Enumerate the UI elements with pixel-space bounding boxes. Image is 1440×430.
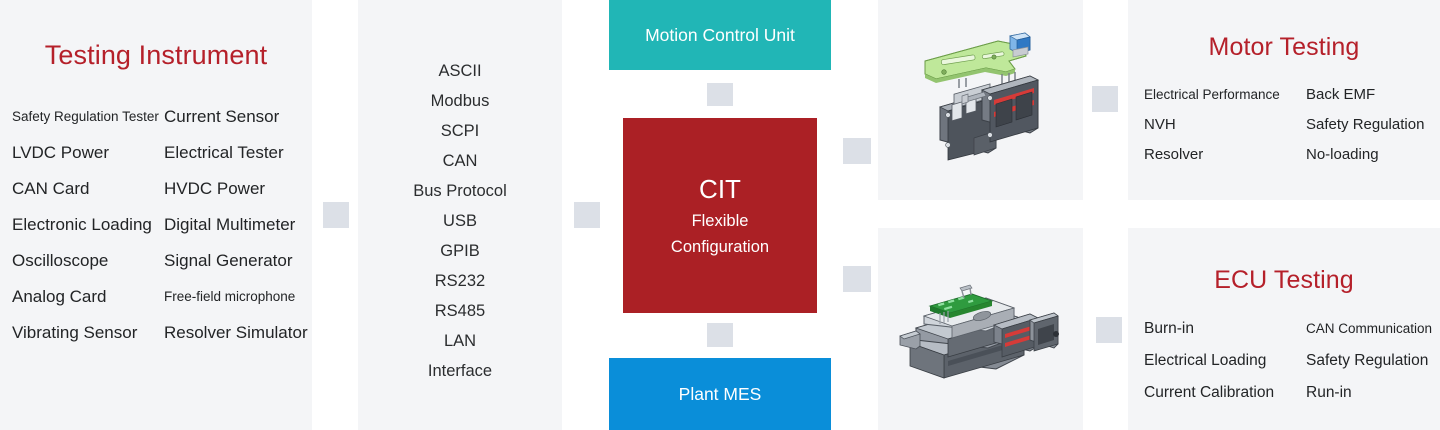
instrument-item[interactable]: Current Sensor bbox=[164, 99, 314, 135]
ecu-testing-item[interactable]: Run-in bbox=[1306, 377, 1440, 409]
block-cit-title: CIT bbox=[699, 172, 741, 206]
instrument-item[interactable]: CAN Card bbox=[12, 171, 164, 207]
panel-ecu-fixture-image bbox=[878, 228, 1083, 430]
protocol-item[interactable]: SCPI bbox=[358, 116, 562, 146]
instrument-tag-grid: Safety Regulation TesterCurrent SensorLV… bbox=[12, 99, 312, 351]
instrument-item[interactable]: Oscilloscope bbox=[12, 243, 164, 279]
protocol-item[interactable]: USB bbox=[358, 206, 562, 236]
ecu-testing-item[interactable]: Electrical Loading bbox=[1144, 345, 1306, 377]
ecu-testing-item[interactable]: Safety Regulation bbox=[1306, 345, 1440, 377]
block-plant-mes-label: Plant MES bbox=[679, 384, 762, 405]
panel-ecu-testing: ECU Testing Burn-inCAN CommunicationElec… bbox=[1128, 228, 1440, 430]
motor-testing-item[interactable]: Electrical Performance bbox=[1144, 80, 1306, 110]
connector-square-motor-image-testing bbox=[1092, 86, 1118, 112]
ecu-testing-item[interactable]: Burn-in bbox=[1144, 313, 1306, 345]
protocol-item[interactable]: Modbus bbox=[358, 86, 562, 116]
protocol-item[interactable]: CAN bbox=[358, 146, 562, 176]
ecu-testing-tag-grid: Burn-inCAN CommunicationElectrical Loadi… bbox=[1144, 313, 1440, 409]
block-cit[interactable]: CIT Flexible Configuration bbox=[623, 118, 817, 313]
block-motion-control-unit[interactable]: Motion Control Unit bbox=[609, 0, 831, 70]
motor-testing-item[interactable]: Resolver bbox=[1144, 140, 1306, 170]
block-cit-subtitle-line1: Flexible bbox=[692, 208, 749, 234]
motor-testing-item[interactable]: Safety Regulation bbox=[1306, 110, 1440, 140]
block-plant-mes[interactable]: Plant MES bbox=[609, 358, 831, 430]
block-motion-control-unit-label: Motion Control Unit bbox=[645, 25, 795, 46]
block-cit-subtitle-line2: Configuration bbox=[671, 234, 769, 260]
instrument-item[interactable]: Free-field microphone bbox=[164, 279, 314, 315]
instrument-item[interactable]: Electronic Loading bbox=[12, 207, 164, 243]
page-title-motor-testing: Motor Testing bbox=[1128, 33, 1440, 62]
instrument-item[interactable]: HVDC Power bbox=[164, 171, 314, 207]
instrument-item[interactable]: Resolver Simulator bbox=[164, 315, 314, 351]
motor-testing-item[interactable]: NVH bbox=[1144, 110, 1306, 140]
panel-protocols: ASCIIModbusSCPICANBus ProtocolUSBGPIBRS2… bbox=[358, 0, 562, 430]
protocol-item[interactable]: ASCII bbox=[358, 56, 562, 86]
motor-testing-item[interactable]: Back EMF bbox=[1306, 80, 1440, 110]
protocol-item[interactable]: LAN bbox=[358, 326, 562, 356]
motor-testing-item[interactable]: No-loading bbox=[1306, 140, 1440, 170]
ecu-test-fixture-icon bbox=[878, 228, 1083, 430]
motor-test-fixture-icon bbox=[878, 0, 1083, 200]
protocol-item[interactable]: RS485 bbox=[358, 296, 562, 326]
connector-square-cit-ecu-image bbox=[843, 266, 871, 292]
instrument-item[interactable]: Vibrating Sensor bbox=[12, 315, 164, 351]
ecu-testing-item[interactable]: Current Calibration bbox=[1144, 377, 1306, 409]
connector-square-cit-mes bbox=[707, 323, 733, 347]
connector-square-ecu-image-testing bbox=[1096, 317, 1122, 343]
connector-square-instruments-protocols bbox=[323, 202, 349, 228]
page-title-ecu-testing: ECU Testing bbox=[1128, 266, 1440, 295]
connector-square-mcu-cit bbox=[707, 83, 733, 106]
protocol-list: ASCIIModbusSCPICANBus ProtocolUSBGPIBRS2… bbox=[358, 56, 562, 386]
panel-testing-instrument: Testing Instrument Safety Regulation Tes… bbox=[0, 0, 312, 430]
protocol-item[interactable]: RS232 bbox=[358, 266, 562, 296]
instrument-item[interactable]: Electrical Tester bbox=[164, 135, 314, 171]
instrument-item[interactable]: Digital Multimeter bbox=[164, 207, 314, 243]
connector-square-protocols-cit bbox=[574, 202, 600, 228]
ecu-testing-item[interactable]: CAN Communication bbox=[1306, 313, 1440, 345]
page-title-testing-instrument: Testing Instrument bbox=[0, 40, 312, 71]
panel-motor-fixture-image bbox=[878, 0, 1083, 200]
diagram-canvas: Testing Instrument Safety Regulation Tes… bbox=[0, 0, 1440, 430]
instrument-item[interactable]: Analog Card bbox=[12, 279, 164, 315]
connector-square-cit-motor-image bbox=[843, 138, 871, 164]
motor-testing-tag-grid: Electrical PerformanceBack EMFNVHSafety … bbox=[1144, 80, 1440, 170]
protocol-item[interactable]: Bus Protocol bbox=[358, 176, 562, 206]
instrument-item[interactable]: Safety Regulation Tester bbox=[12, 99, 164, 135]
instrument-item[interactable]: Signal Generator bbox=[164, 243, 314, 279]
panel-motor-testing: Motor Testing Electrical PerformanceBack… bbox=[1128, 0, 1440, 200]
protocol-item[interactable]: Interface bbox=[358, 356, 562, 386]
protocol-item[interactable]: GPIB bbox=[358, 236, 562, 266]
instrument-item[interactable]: LVDC Power bbox=[12, 135, 164, 171]
